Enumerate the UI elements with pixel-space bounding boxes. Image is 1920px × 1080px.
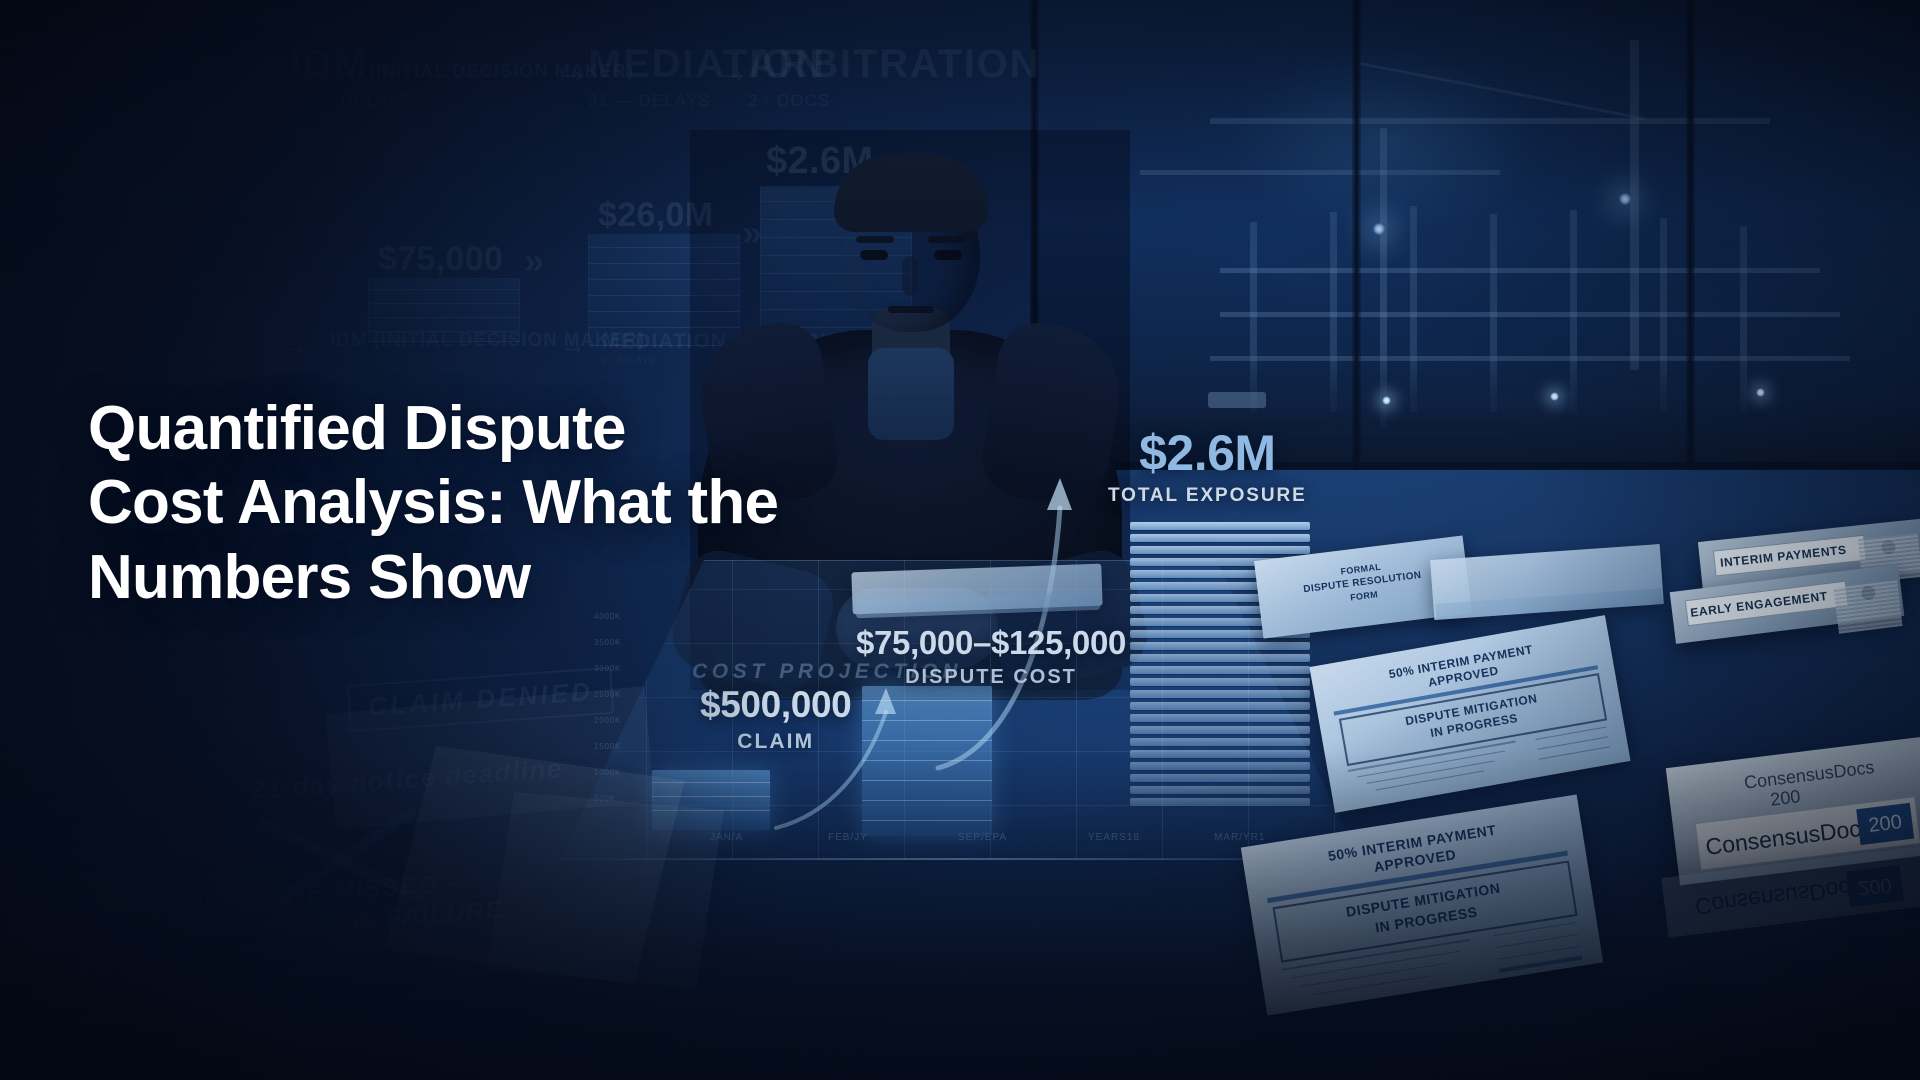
stack-sheet <box>1130 522 1310 530</box>
window-mullion-mid <box>1352 0 1361 470</box>
crane-mast-right <box>1630 40 1639 370</box>
bottom-darkening-overlay <box>0 750 1920 1080</box>
headline-heading: Quantified Dispute Cost Analysis: What t… <box>88 392 1008 615</box>
window-mullion-right <box>1686 0 1695 470</box>
stack-sheet <box>1130 702 1310 710</box>
flow-step-arbitration-label: ARBITRATION <box>748 42 1040 86</box>
binder-early-pages <box>1833 580 1902 633</box>
vehicle-headlight-2 <box>1550 392 1559 401</box>
stack-sheet <box>1130 714 1310 722</box>
page-title: Quantified Dispute Cost Analysis: What t… <box>88 392 1008 615</box>
headline-line-3: Numbers Show <box>88 541 1008 615</box>
holo-label-exposure: $2.6M TOTAL EXPOSURE <box>1108 428 1307 505</box>
stack-sheet <box>1130 690 1310 698</box>
stack-sheet <box>1130 654 1310 662</box>
vehicle-headlight-3 <box>1756 388 1765 397</box>
stack-sheet <box>1130 546 1310 554</box>
stack-sheet <box>1130 666 1310 674</box>
office-window <box>1030 0 1920 470</box>
holo-exposure-value: $2.6M <box>1108 428 1307 478</box>
vehicle-headlight-1 <box>1382 396 1391 405</box>
holo-label-dispute: $75,000–$125,000 DISPUTE COST <box>856 626 1126 687</box>
stack-sheet <box>1130 726 1310 734</box>
holo-dispute-value: $75,000–$125,000 <box>856 626 1126 659</box>
site-light-left <box>1372 222 1386 236</box>
holo-exposure-label: TOTAL EXPOSURE <box>1108 486 1307 505</box>
holo-dispute-label: DISPUTE COST <box>856 667 1126 687</box>
hero-banner: → IDM(INITIAL DECISION MAKER) 22 — Delay… <box>0 0 1920 1080</box>
steel-beam-2 <box>1220 312 1840 317</box>
headline-line-2: Cost Analysis: What the <box>88 466 1008 540</box>
site-light-right <box>1618 192 1632 206</box>
crane-jib-left <box>1140 170 1500 175</box>
flow-step-arbitration: ARBITRATION 2 - Docs <box>748 42 1040 111</box>
headline-line-1: Quantified Dispute <box>88 392 1008 466</box>
stack-sheet <box>1130 738 1310 746</box>
stack-sheet <box>1130 642 1310 650</box>
flow-step-arbitration-sub: 2 - Docs <box>748 91 1040 111</box>
steel-beam-1 <box>1220 268 1820 273</box>
stack-sheet <box>1130 678 1310 686</box>
stack-sheet <box>1130 534 1310 542</box>
site-truck <box>1208 392 1266 408</box>
